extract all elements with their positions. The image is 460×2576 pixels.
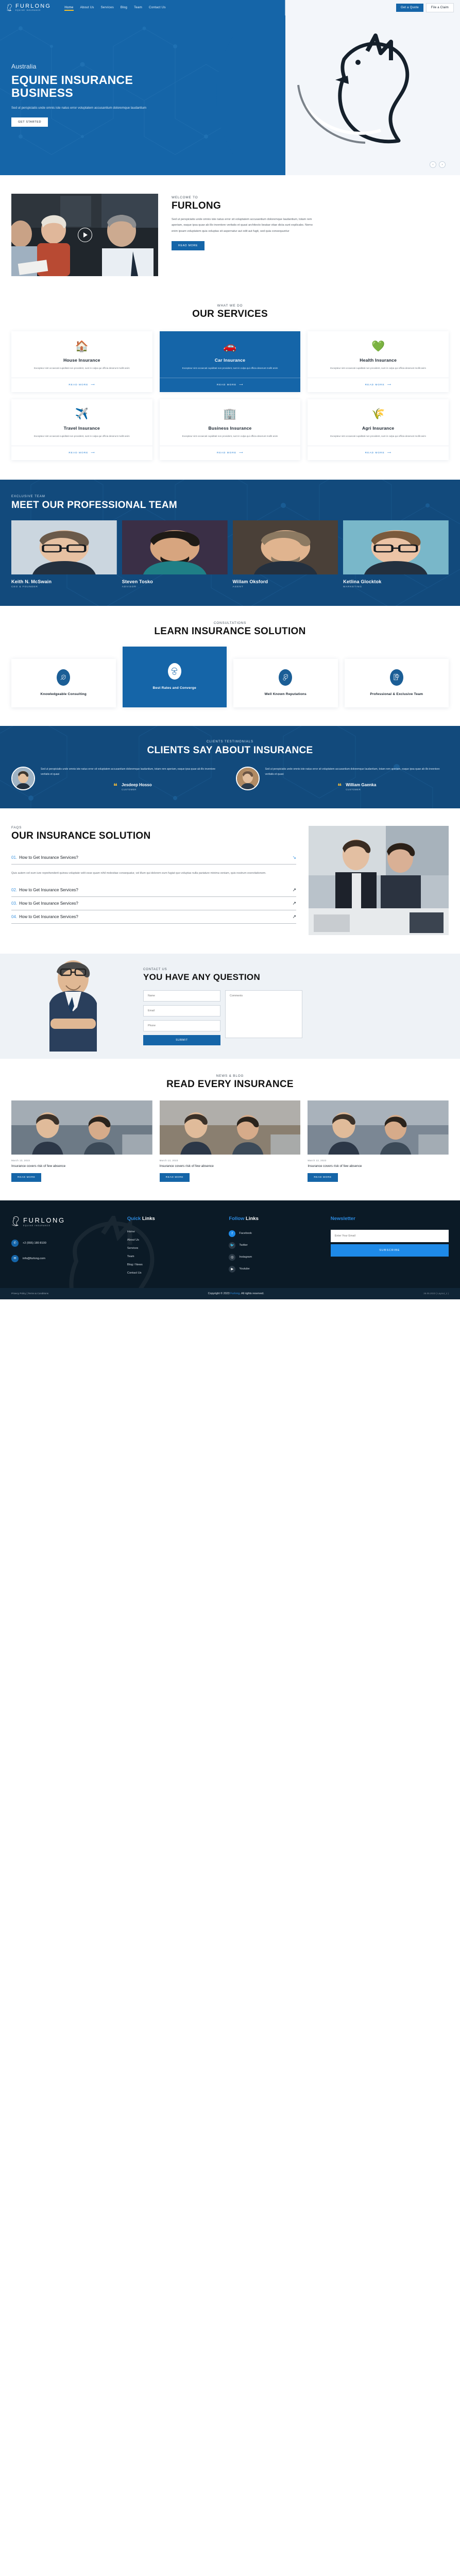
testimonials-section: CLIENTS TESTIMONIALS CLIENTS SAY ABOUT I…	[0, 726, 460, 808]
testimonial-text: Sed ut perspiciatis unde omnis iste natu…	[41, 767, 225, 777]
consultations-kicker: CONSULTATIONS	[11, 621, 449, 625]
footer-logo[interactable]: FURLONG EQUINE INSURANCE	[11, 1216, 120, 1227]
faq-question: How to Get Insurance Services?	[19, 914, 292, 919]
testimonial-body: Sed ut perspiciatis unde omnis iste natu…	[41, 767, 225, 791]
nav-item-team[interactable]: Team	[134, 6, 142, 10]
twitter-icon: 🐦	[229, 1242, 235, 1249]
service-name: Agri Insurance	[362, 426, 394, 431]
file-a-claim-button[interactable]: File a Claim	[426, 3, 454, 12]
service-description: Excepteur sint occaecati cupiditati non …	[182, 434, 278, 446]
nav-item-home[interactable]: Home	[64, 6, 73, 10]
faq-question: How to Get Insurance Services?	[19, 901, 292, 906]
faq-number: 03.	[11, 901, 17, 906]
consultations-section: CONSULTATIONS LEARN INSURANCE SOLUTION K…	[0, 606, 460, 726]
horse-illustration	[290, 28, 445, 157]
contact-name-input[interactable]	[143, 990, 220, 1002]
team-kicker: EXCLUSIVE TEAM	[11, 495, 449, 498]
social-link-facebook[interactable]: fFacebook	[229, 1230, 323, 1237]
faq-section: FAQS OUR INSURANCE SOLUTION 01.How to Ge…	[0, 808, 460, 954]
consultation-label: Professional & Exclusive Team	[370, 692, 423, 696]
hero-content: Australia EQUINE INSURANCE BUSINESS Sed …	[11, 63, 181, 127]
consultation-card[interactable]: Knowledgeable Consulting	[11, 659, 116, 707]
service-read-more-link[interactable]: READ MORE⟶	[160, 446, 301, 460]
arrow-right-icon: ⟶	[91, 452, 95, 454]
team-grid: Keith N. McSwainCEO & FOUNDERSteven Tosk…	[11, 520, 449, 588]
news-read-more-button[interactable]: READ MORE	[160, 1173, 190, 1182]
hero-cta-button[interactable]: GET STARTED	[11, 117, 48, 127]
testimonial-card: Sed ut perspiciatis unde omnis iste natu…	[11, 767, 225, 791]
horse-logo-icon	[6, 4, 14, 12]
testimonial-name: Jesdeep Hosso	[122, 783, 152, 787]
service-description: Excepteur sint occaecati cupiditati non …	[330, 366, 426, 378]
team-member-name: Ketlina Glocktok	[343, 579, 449, 584]
service-read-more-link[interactable]: READ MORE⟶	[11, 378, 152, 392]
team-section: EXCLUSIVE TEAM MEET OUR PROFESSIONAL TEA…	[0, 480, 460, 606]
arrow-right-icon: ⟶	[387, 384, 391, 386]
service-read-more-link[interactable]: READ MORE⟶	[11, 446, 152, 460]
welcome-paragraph: Sed ut perspiciatis unde omnis iste natu…	[172, 217, 313, 234]
service-read-more-link[interactable]: READ MORE⟶	[160, 378, 301, 392]
welcome-title: FURLONG	[172, 200, 313, 212]
site-footer: FURLONG EQUINE INSURANCE ✆ +2 (555) 180 …	[0, 1200, 460, 1288]
arrow-up-right-icon[interactable]: ↗	[292, 887, 296, 893]
footer-quick-links-column: Quick Links HomeAbout UsServicesTeamBlog…	[127, 1216, 222, 1275]
team-member-name: Willam Oksford	[233, 579, 338, 584]
consultation-label: Well Known Reputations	[264, 692, 306, 696]
service-name: Health Insurance	[360, 358, 397, 363]
nav-item-contact-us[interactable]: Contact Us	[149, 6, 166, 10]
team-member-name: Keith N. McSwain	[11, 579, 117, 584]
contact-kicker: CONTACT US	[143, 968, 449, 971]
umbrella-box-icon	[168, 663, 181, 680]
site-header: FURLONG EQUINE INSURANCE HomeAbout UsSer…	[0, 0, 460, 15]
arrow-right-icon: ⟶	[239, 384, 243, 386]
car-insurance-icon: 🚗	[223, 340, 236, 353]
consultation-card[interactable]: Best Rates and Converge	[123, 647, 227, 707]
services-kicker: WHAT WE DO	[11, 304, 449, 308]
footer-logo-tagline: EQUINE INSURANCE	[23, 1225, 65, 1227]
faq-question-row[interactable]: 04.How to Get Insurance Services?↗	[11, 910, 296, 924]
testimonial-role: CUSTOMER	[346, 788, 376, 791]
service-card[interactable]: 🏢Business InsuranceExcepteur sint occaec…	[160, 399, 301, 460]
page-root: FURLONG EQUINE INSURANCE HomeAbout UsSer…	[0, 0, 460, 1299]
news-title: READ EVERY INSURANCE	[11, 1079, 449, 1090]
youtube-icon: ▶	[229, 1266, 235, 1273]
arrow-right-icon: ⟶	[91, 384, 95, 386]
quick-links-list: HomeAbout UsServicesTeamBlog / NewsConta…	[127, 1230, 222, 1275]
news-kicker: NEWS & BLOG	[11, 1074, 449, 1078]
faq-number: 04.	[11, 914, 17, 919]
hand-shield-icon	[57, 669, 70, 686]
document-shield-icon	[390, 669, 403, 686]
logo-tagline: EQUINE INSURANCE	[15, 10, 51, 11]
news-date: March 13, 2023	[160, 1159, 301, 1162]
social-link-instagram[interactable]: ◎Instagram	[229, 1254, 323, 1261]
footer-link-blog-news[interactable]: Blog / News	[127, 1263, 222, 1266]
agri-insurance-icon: 🌾	[371, 408, 385, 421]
layout-version-text: 26.05.2023 ( Layout_1 )	[423, 1292, 449, 1295]
service-name: Travel Insurance	[64, 426, 100, 431]
social-label: Youtube	[239, 1267, 249, 1270]
read-more-label: READ MORE	[69, 452, 88, 454]
follow-links-heading: Follow Links	[229, 1216, 323, 1222]
team-member-photo	[11, 520, 117, 574]
instagram-icon: ◎	[229, 1254, 235, 1261]
footer-follow-column: Follow Links fFacebook🐦Twitter◎Instagram…	[229, 1216, 323, 1275]
testimonials-title: CLIENTS SAY ABOUT INSURANCE	[11, 745, 449, 756]
contact-comments-textarea[interactable]	[225, 990, 302, 1038]
testimonials-grid: Sed ut perspiciatis unde omnis iste natu…	[11, 767, 449, 791]
contact-email-input[interactable]	[143, 1005, 220, 1016]
footer-phone-text: +2 (555) 180 8100	[23, 1242, 46, 1245]
faq-answer: Quis autem vel eum iure reprehenderit qu…	[11, 865, 296, 884]
arrow-down-right-icon[interactable]: ↘	[292, 855, 296, 860]
carousel-prev-icon[interactable]: ‹	[430, 161, 436, 168]
service-name: Business Insurance	[209, 426, 252, 431]
service-card[interactable]: ✈️Travel InsuranceExcepteur sint occaeca…	[11, 399, 152, 460]
contact-form-area: CONTACT US YOU HAVE ANY QUESTION SUBMIT	[135, 954, 449, 1059]
services-grid: 🏠House InsuranceExcepteur sint occaecati…	[11, 331, 449, 460]
faq-accordion: 01.How to Get Insurance Services?↘Quis a…	[11, 851, 296, 924]
footer-link-about-us[interactable]: About Us	[127, 1239, 222, 1242]
testimonial-avatar	[236, 767, 260, 790]
copyright-text: Copyright © 2023 Furlong. All rights res…	[208, 1292, 264, 1295]
testimonial-body: Sed ut perspiciatis unde omnis iste natu…	[265, 767, 449, 791]
footer-newsletter-column: Newsletter SUBSCRIBE	[331, 1216, 449, 1275]
footer-logo-name: FURLONG	[23, 1216, 65, 1224]
welcome-section: WELCOME TO FURLONG Sed ut perspiciatis u…	[0, 175, 460, 292]
team-member[interactable]: Steven ToskoADVISOR	[122, 520, 228, 588]
service-card[interactable]: 🏠House InsuranceExcepteur sint occaecati…	[11, 331, 152, 392]
social-link-twitter[interactable]: 🐦Twitter	[229, 1242, 323, 1249]
faq-question: How to Get Insurance Services?	[19, 855, 292, 860]
welcome-text: WELCOME TO FURLONG Sed ut perspiciatis u…	[172, 194, 313, 250]
nav-item-blog[interactable]: Blog	[121, 6, 127, 10]
faq-number: 01.	[11, 855, 17, 860]
news-read-more-button[interactable]: READ MORE	[11, 1173, 41, 1182]
footer-link-team[interactable]: Team	[127, 1255, 222, 1258]
footer-email-text: info@furlong.com	[23, 1257, 45, 1260]
hero-carousel-controls: ‹ ›	[430, 161, 446, 168]
service-card[interactable]: 🌾Agri InsuranceExcepteur sint occaecati …	[308, 399, 449, 460]
testimonial-author: ❝Jesdeep HossoCUSTOMER	[41, 783, 225, 791]
service-read-more-link[interactable]: READ MORE⟶	[308, 378, 449, 392]
news-grid: March 13, 2023Insurance covers risk of f…	[11, 1100, 449, 1182]
testimonial-card: Sed ut perspiciatis unde omnis iste natu…	[236, 767, 449, 791]
header-actions: Get a Quote File a Claim	[396, 3, 454, 12]
arrow-right-icon: ⟶	[387, 452, 391, 454]
contact-submit-button[interactable]: SUBMIT	[143, 1035, 220, 1045]
team-member[interactable]: Ketlina GlocktokMARKETING	[343, 520, 449, 588]
play-button-icon[interactable]	[78, 228, 92, 242]
arrow-up-right-icon[interactable]: ↗	[292, 914, 296, 920]
read-more-label: READ MORE	[365, 384, 385, 386]
hero-kicker: Australia	[11, 63, 181, 70]
footer-brand-column: FURLONG EQUINE INSURANCE ✆ +2 (555) 180 …	[11, 1216, 120, 1275]
facebook-icon: f	[229, 1230, 235, 1237]
contact-person-photo	[11, 954, 135, 1059]
contact-section: CONTACT US YOU HAVE ANY QUESTION SUBMIT	[0, 954, 460, 1059]
read-more-label: READ MORE	[365, 452, 385, 454]
newsletter-email-input[interactable]	[331, 1230, 449, 1242]
news-headline: Insurance covers risk of few absence	[308, 1164, 449, 1168]
house-insurance-icon: 🏠	[75, 340, 89, 353]
travel-insurance-icon: ✈️	[75, 408, 89, 421]
news-thumbnail	[11, 1100, 152, 1155]
news-date: March 13, 2023	[11, 1159, 152, 1162]
news-card[interactable]: March 13, 2023Insurance covers risk of f…	[11, 1100, 152, 1182]
envelope-icon: ✉	[11, 1255, 19, 1262]
faq-title: OUR INSURANCE SOLUTION	[11, 831, 296, 842]
copyright-prefix: Copyright © 2023	[208, 1292, 231, 1295]
follow-links-heading-rest: Links	[246, 1216, 259, 1222]
welcome-kicker: WELCOME TO	[172, 196, 313, 199]
quick-links-heading-rest: Links	[142, 1216, 155, 1222]
service-card[interactable]: 🚗Car InsuranceExcepteur sint occaecati c…	[160, 331, 301, 392]
business-insurance-icon: 🏢	[223, 408, 236, 421]
newsletter-subscribe-button[interactable]: SUBSCRIBE	[331, 1244, 449, 1257]
nav-item-about-us[interactable]: About Us	[80, 6, 94, 10]
quick-links-heading-accent: Quick	[127, 1216, 141, 1222]
hero-description: Sed ut perspiciatis unde omnis iste natu…	[11, 105, 150, 111]
team-member[interactable]: Keith N. McSwainCEO & FOUNDER	[11, 520, 117, 588]
faq-kicker: FAQS	[11, 826, 296, 829]
service-description: Excepteur sint occaecati cupiditati non …	[34, 366, 130, 378]
news-thumbnail	[308, 1100, 449, 1155]
get-a-quote-button[interactable]: Get a Quote	[396, 4, 423, 12]
faq-photo	[309, 826, 449, 935]
nav-item-services[interactable]: Services	[101, 6, 114, 10]
team-member-photo	[233, 520, 338, 574]
news-card[interactable]: March 13, 2023Insurance covers risk of f…	[308, 1100, 449, 1182]
footer-link-services[interactable]: Services	[127, 1247, 222, 1250]
site-logo[interactable]: FURLONG EQUINE INSURANCE	[6, 4, 51, 12]
footer-link-home[interactable]: Home	[127, 1230, 222, 1233]
testimonial-author: ❝William GaenkaCUSTOMER	[265, 783, 449, 791]
news-card[interactable]: March 13, 2023Insurance covers risk of f…	[160, 1100, 301, 1182]
consultation-label: Best Rates and Converge	[153, 686, 196, 690]
news-section: NEWS & BLOG READ EVERY INSURANCE March 1…	[0, 1059, 460, 1200]
service-description: Excepteur sint occaecati cupiditati non …	[182, 366, 278, 378]
social-label: Facebook	[239, 1232, 252, 1235]
faq-question-row[interactable]: 01.How to Get Insurance Services?↘	[11, 851, 296, 865]
primary-nav: HomeAbout UsServicesBlogTeamContact Us	[64, 6, 165, 10]
team-member-photo	[122, 520, 228, 574]
news-thumbnail	[160, 1100, 301, 1155]
testimonial-role: CUSTOMER	[122, 788, 152, 791]
footer-bottom-bar: Privecy Policy | Terms & Conditions Copy…	[0, 1288, 460, 1299]
team-member-role: MARKETING	[343, 586, 449, 588]
contact-title: YOU HAVE ANY QUESTION	[143, 972, 449, 982]
logo-name: FURLONG	[15, 4, 51, 9]
services-section: WHAT WE DO OUR SERVICES 🏠House Insurance…	[0, 292, 460, 480]
arrow-right-icon: ⟶	[239, 452, 243, 454]
read-more-label: READ MORE	[217, 384, 236, 386]
services-title: OUR SERVICES	[11, 309, 449, 320]
news-headline: Insurance covers risk of few absence	[160, 1164, 301, 1168]
social-label: Instagram	[239, 1256, 252, 1259]
read-more-label: READ MORE	[217, 452, 236, 454]
service-description: Excepteur sint occaecati cupiditati non …	[34, 434, 130, 446]
footer-email[interactable]: ✉ info@furlong.com	[11, 1255, 120, 1262]
welcome-video-thumbnail[interactable]	[11, 194, 158, 276]
footer-horse-icon	[11, 1216, 22, 1227]
social-label: Twitter	[239, 1244, 247, 1247]
service-name: Car Insurance	[215, 358, 245, 363]
service-name: House Insurance	[63, 358, 100, 363]
service-card[interactable]: 💚Health InsuranceExcepteur sint occaecat…	[308, 331, 449, 392]
agent-illustration	[11, 954, 135, 1052]
consultations-grid: Knowledgeable ConsultingBest Rates and C…	[11, 647, 449, 707]
social-link-youtube[interactable]: ▶Youtube	[229, 1266, 323, 1273]
news-headline: Insurance covers risk of few absence	[11, 1164, 152, 1168]
welcome-read-more-button[interactable]: READ MORE	[172, 241, 205, 250]
testimonial-name: William Gaenka	[346, 783, 376, 787]
copyright-suffix: . All rights reserved.	[240, 1292, 264, 1295]
service-description: Excepteur sint occaecati cupiditati non …	[330, 434, 426, 446]
arrow-up-right-icon[interactable]: ↗	[292, 901, 296, 906]
copyright-brand[interactable]: Furlong	[230, 1292, 240, 1295]
read-more-label: READ MORE	[69, 384, 88, 386]
team-member-role: ADVISOR	[122, 586, 228, 588]
privacy-terms-link[interactable]: Privecy Policy | Terms & Conditions	[11, 1292, 48, 1295]
team-member-name: Steven Tosko	[122, 579, 228, 584]
newsletter-heading-text: Newsletter	[331, 1216, 355, 1222]
team-member[interactable]: Willam OksfordAGENT	[233, 520, 338, 588]
hero-section: Australia EQUINE INSURANCE BUSINESS Sed …	[0, 15, 460, 175]
news-read-more-button[interactable]: READ MORE	[308, 1173, 337, 1182]
testimonials-kicker: CLIENTS TESTIMONIALS	[11, 740, 449, 743]
social-links-list: fFacebook🐦Twitter◎Instagram▶Youtube	[229, 1230, 323, 1273]
phone-icon: ✆	[11, 1240, 19, 1247]
consultations-title: LEARN INSURANCE SOLUTION	[11, 626, 449, 637]
consultation-label: Knowledgeable Consulting	[41, 692, 87, 696]
health-insurance-icon: 💚	[371, 340, 385, 353]
carousel-next-icon[interactable]: ›	[439, 161, 446, 168]
contact-phone-input[interactable]	[143, 1020, 220, 1031]
team-member-role: CEO & FOUNDER	[11, 586, 117, 588]
money-shield-icon	[279, 669, 292, 686]
office-people-photo	[309, 826, 449, 935]
faq-question-row[interactable]: 03.How to Get Insurance Services?↗	[11, 897, 296, 910]
team-member-photo	[343, 520, 449, 574]
team-member-role: AGENT	[233, 586, 338, 588]
hero-title: EQUINE INSURANCE BUSINESS	[11, 74, 181, 99]
service-read-more-link[interactable]: READ MORE⟶	[308, 446, 449, 460]
newsletter-heading: Newsletter	[331, 1216, 449, 1222]
team-title: MEET OUR PROFESSIONAL TEAM	[11, 500, 449, 511]
quote-icon: ❝	[337, 783, 342, 790]
follow-links-heading-accent: Follow	[229, 1216, 244, 1222]
consultation-card[interactable]: Well Known Reputations	[233, 659, 338, 707]
quote-icon: ❝	[113, 783, 117, 790]
footer-phone[interactable]: ✆ +2 (555) 180 8100	[11, 1240, 120, 1247]
consultation-card[interactable]: Professional & Exclusive Team	[345, 659, 449, 707]
footer-link-contact-us[interactable]: Contact Us	[127, 1272, 222, 1275]
news-date: March 13, 2023	[308, 1159, 449, 1162]
testimonial-avatar	[11, 767, 35, 790]
quick-links-heading: Quick Links	[127, 1216, 222, 1222]
faq-question: How to Get Insurance Services?	[19, 888, 292, 892]
faq-question-row[interactable]: 02.How to Get Insurance Services?↗	[11, 884, 296, 897]
faq-number: 02.	[11, 888, 17, 892]
testimonial-text: Sed ut perspiciatis unde omnis iste natu…	[265, 767, 449, 777]
